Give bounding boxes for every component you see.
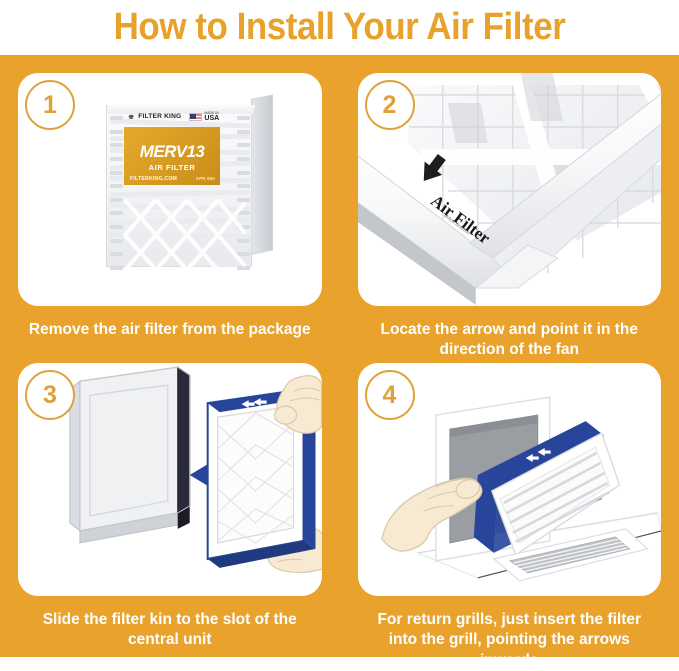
crown-icon: ♚	[128, 114, 134, 121]
merv-rating: MERV13	[130, 142, 214, 162]
title-band: How to Install Your Air Filter	[0, 0, 679, 55]
step-3-card: 3	[18, 363, 322, 596]
brand-row: ♚ FILTER KING MADE IN USA	[128, 109, 224, 125]
step-1-number: 1	[43, 93, 57, 118]
label-footer-row: FILTERKING.COM APR 650	[130, 176, 215, 182]
filter-pleat-diamonds	[123, 198, 247, 272]
blue-framed-filter	[208, 376, 322, 573]
step-3: 3 Slide the filter kin to the slot of th…	[0, 345, 340, 671]
step-4-caption: For return grills, just insert the filte…	[358, 610, 662, 671]
infographic-root: How to Install Your Air Filter	[0, 0, 679, 657]
step-3-caption: Slide the filter kin to the slot of the …	[18, 610, 322, 651]
brand-url: FILTERKING.COM	[130, 176, 177, 182]
usa-flag-icon	[189, 113, 202, 121]
step-2-badge: 2	[365, 80, 415, 130]
apr-rating: APR 650	[196, 176, 215, 181]
merv13-product-label: MERV13 AIR FILTER FILTERKING.COM APR 650	[124, 127, 220, 185]
brand-name: FILTER KING	[138, 114, 181, 121]
steps-grid: ♚ FILTER KING MADE IN USA ME	[0, 55, 679, 657]
step-3-badge: 3	[25, 370, 75, 420]
central-unit-slot	[70, 367, 190, 543]
step-1: ♚ FILTER KING MADE IN USA ME	[0, 55, 340, 345]
label-subtitle: AIR FILTER	[130, 163, 214, 172]
step-1-badge: 1	[25, 80, 75, 130]
step-1-caption: Remove the air filter from the package	[18, 320, 322, 340]
step-4-card: 4	[358, 363, 662, 596]
filter-left-pleat-edge	[110, 116, 123, 270]
step-2-number: 2	[383, 93, 397, 118]
page-title: How to Install Your Air Filter	[114, 6, 566, 49]
step-4: 4 For return grills, just insert the fil…	[340, 345, 679, 671]
made-in-usa-badge: MADE IN USA	[189, 112, 219, 122]
step-2: Air Filter airflow direction 2 Locate th…	[340, 55, 679, 345]
step-3-number: 3	[43, 383, 57, 408]
filter-side-panel	[251, 94, 273, 255]
step-4-number: 4	[383, 383, 397, 408]
step-2-card: Air Filter airflow direction 2	[358, 73, 662, 306]
usa-text: USA	[204, 115, 219, 122]
step-1-card: ♚ FILTER KING MADE IN USA ME	[18, 73, 322, 306]
step-4-badge: 4	[365, 370, 415, 420]
merv13-filter-photo: ♚ FILTER KING MADE IN USA ME	[106, 99, 274, 267]
